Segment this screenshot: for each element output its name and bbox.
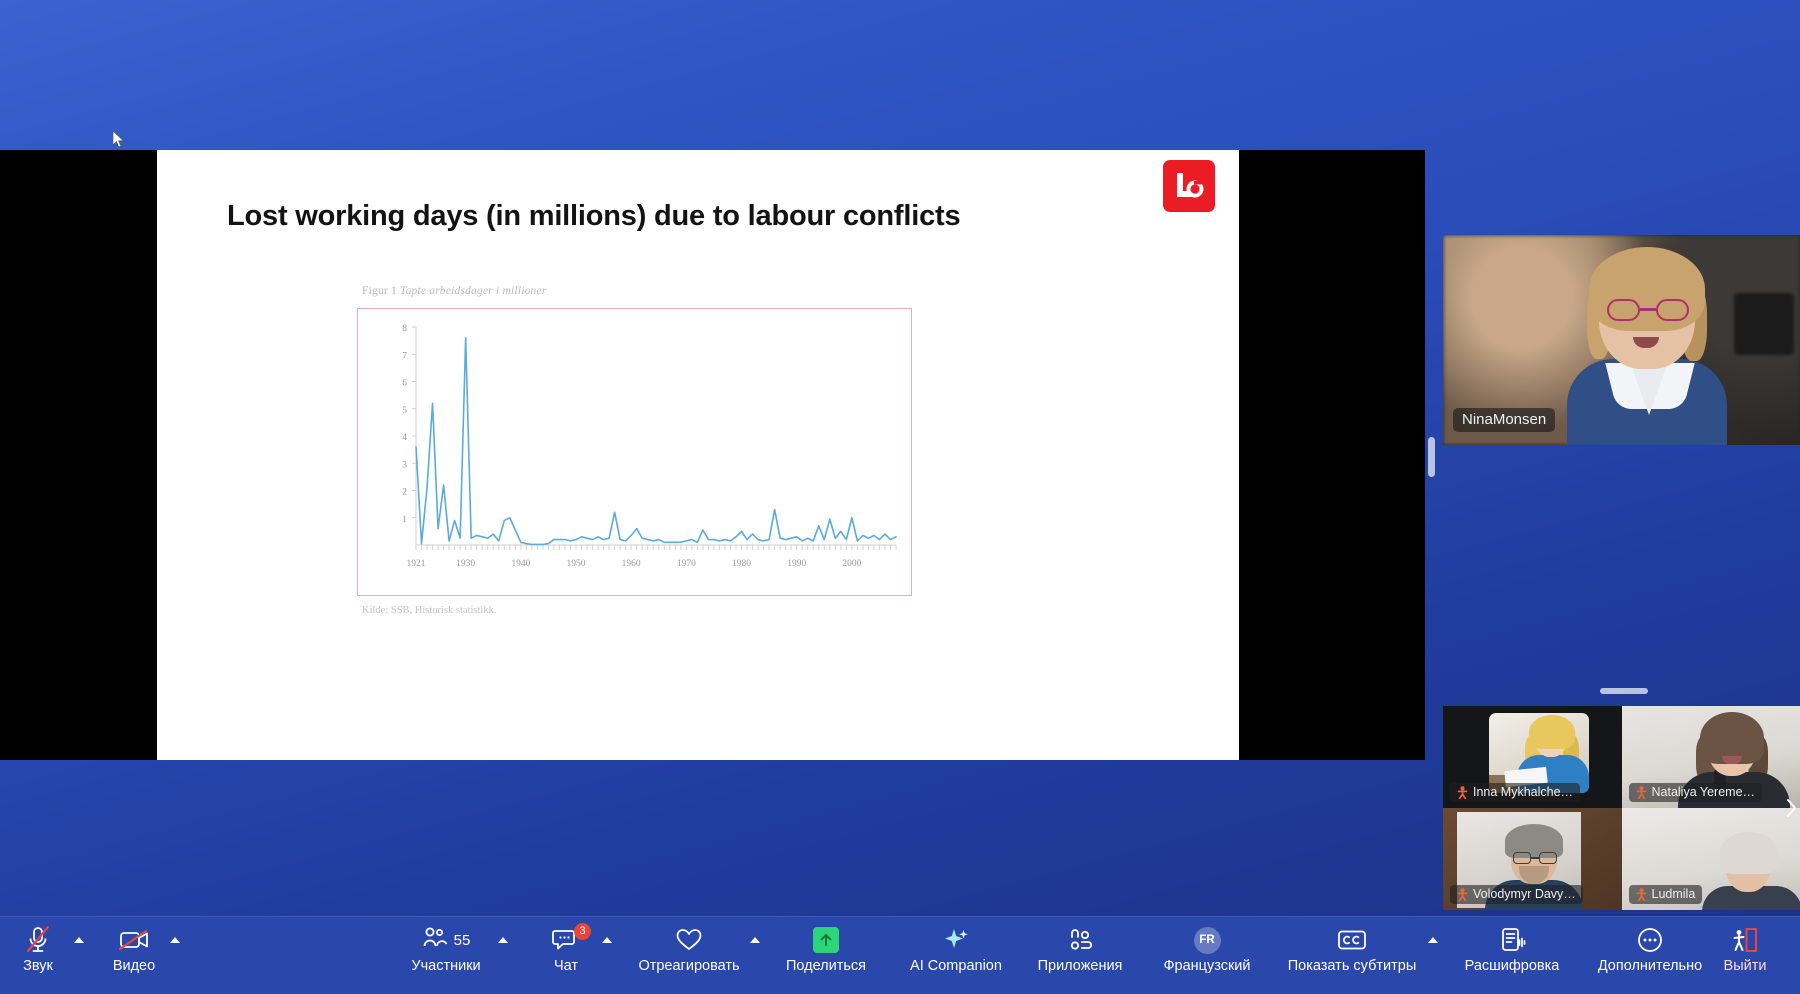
chevron-up-icon — [498, 937, 508, 943]
captions-label: Показать субтитры — [1288, 958, 1417, 974]
chevron-up-icon — [750, 937, 760, 943]
leave-label: Выйти — [1724, 958, 1767, 974]
participant-name-chip: Nataliya Yereme… — [1629, 783, 1763, 802]
heart-icon — [675, 927, 703, 953]
leave-meeting-button[interactable]: Выйти — [1712, 916, 1778, 974]
sparkle-icon — [942, 927, 970, 953]
video-label: Видео — [113, 958, 155, 974]
line-chart: 1234567819211930194019501960197019801990… — [358, 309, 911, 594]
share-panel-resize-handle[interactable] — [1428, 437, 1435, 477]
svg-text:2000: 2000 — [842, 559, 861, 569]
chevron-up-icon — [74, 937, 84, 943]
participant-name-chip: Ludmila — [1629, 885, 1703, 904]
svg-text:4: 4 — [402, 433, 407, 443]
participant-name: Nataliya Yereme… — [1652, 785, 1756, 799]
captions-options-button[interactable] — [1422, 916, 1444, 943]
audio-options-button[interactable] — [68, 916, 90, 943]
more-dots-icon — [1636, 926, 1664, 954]
figure-caption-text: Tapte arbeidsdager i millioner — [400, 285, 546, 297]
leave-meeting-icon — [1731, 926, 1759, 954]
participant-name: Volodymyr Davy… — [1473, 887, 1576, 901]
hand-raised-icon — [1457, 786, 1468, 799]
chart-frame: 1234567819211930194019501960197019801990… — [357, 308, 912, 596]
hand-raised-icon — [1636, 888, 1647, 901]
microphone-muted-icon — [25, 925, 51, 955]
participant-name-chip: Inna Mykhalche… — [1450, 783, 1580, 802]
participants-icon — [422, 926, 449, 954]
participant-tile[interactable]: Inna Mykhalche… — [1443, 706, 1622, 808]
participants-options-button[interactable] — [492, 916, 514, 943]
language-button[interactable]: FR Французский — [1152, 916, 1262, 974]
language-label: Французский — [1164, 958, 1251, 974]
hand-raised-icon — [1457, 888, 1468, 901]
audio-button[interactable]: Звук — [8, 916, 68, 974]
video-button[interactable]: Видео — [104, 916, 164, 974]
participant-name-chip: Volodymyr Davy… — [1450, 885, 1583, 904]
svg-text:1950: 1950 — [567, 559, 586, 569]
participants-count: 55 — [454, 932, 471, 949]
reactions-label: Отреагировать — [638, 958, 739, 974]
language-code: FR — [1199, 934, 1214, 946]
audio-label: Звук — [23, 958, 53, 974]
participant-name: Inna Mykhalche… — [1473, 785, 1573, 799]
share-screen-button[interactable]: Поделиться — [780, 916, 872, 974]
presentation-slide: Lost working days (in millions) due to l… — [157, 150, 1239, 760]
language-icon: FR — [1194, 927, 1221, 954]
video-off-icon — [118, 925, 150, 955]
svg-text:5: 5 — [402, 406, 407, 416]
svg-text:1: 1 — [402, 515, 407, 525]
participant-gallery[interactable]: Inna Mykhalche… Nataliya Yereme… Volody — [1443, 706, 1800, 910]
participants-label: Участники — [411, 958, 480, 974]
ai-companion-label: AI Companion — [910, 958, 1002, 974]
glasses-icon — [1607, 299, 1689, 321]
participant-tile[interactable]: Volodymyr Davy… — [1443, 808, 1622, 910]
active-speaker-tile[interactable]: NinaMonsen — [1443, 235, 1800, 445]
svg-text:8: 8 — [402, 324, 407, 334]
chat-label: Чат — [554, 958, 578, 974]
svg-text:2: 2 — [402, 488, 407, 498]
chat-options-button[interactable] — [596, 916, 618, 943]
participant-tile[interactable]: Nataliya Yereme… — [1622, 706, 1800, 808]
figure-number: Figur 1 — [362, 285, 400, 297]
background-object — [1734, 293, 1794, 355]
apps-icon — [1067, 927, 1094, 954]
more-label: Дополнительно — [1598, 958, 1702, 974]
reactions-options-button[interactable] — [744, 916, 766, 943]
svg-text:7: 7 — [402, 351, 407, 361]
share-screen-icon — [813, 927, 839, 953]
ai-companion-button[interactable]: AI Companion — [906, 916, 1006, 974]
svg-text:1930: 1930 — [456, 559, 475, 569]
svg-text:6: 6 — [402, 379, 407, 389]
chevron-up-icon — [602, 937, 612, 943]
chart-source-note: Kilde: SSB, Historisk statistikk. — [362, 605, 496, 616]
participants-button[interactable]: 55 Участники — [400, 916, 492, 974]
gallery-next-button[interactable] — [1783, 784, 1800, 832]
svg-text:1921: 1921 — [407, 559, 426, 569]
share-screen-label: Поделиться — [786, 958, 866, 974]
svg-text:1980: 1980 — [732, 559, 751, 569]
captions-button[interactable]: Показать субтитры — [1282, 916, 1422, 974]
participant-name: Ludmila — [1652, 887, 1696, 901]
slide-title: Lost working days (in millions) due to l… — [227, 200, 1107, 233]
speaker-name-label: NinaMonsen — [1453, 408, 1555, 432]
participant-tile[interactable]: Ludmila — [1622, 808, 1800, 910]
svg-text:1960: 1960 — [622, 559, 641, 569]
chevron-up-icon — [170, 937, 180, 943]
chevron-right-icon — [1786, 798, 1798, 818]
video-options-button[interactable] — [164, 916, 186, 943]
svg-text:3: 3 — [402, 460, 407, 470]
meeting-toolbar[interactable]: Звук Видео 55 Участники — [0, 916, 1800, 994]
svg-text:1970: 1970 — [677, 559, 696, 569]
svg-text:1940: 1940 — [511, 559, 530, 569]
apps-label: Приложения — [1038, 958, 1123, 974]
chat-button[interactable]: 3 Чат — [536, 916, 596, 974]
lo-logo-icon — [1163, 160, 1215, 212]
more-button[interactable]: Дополнительно — [1588, 916, 1712, 974]
closed-caption-icon — [1337, 928, 1367, 952]
svg-text:1990: 1990 — [787, 559, 806, 569]
apps-button[interactable]: Приложения — [1030, 916, 1130, 974]
gallery-resize-handle[interactable] — [1600, 688, 1648, 694]
transcript-icon — [1499, 926, 1526, 954]
shared-screen-region[interactable]: Lost working days (in millions) due to l… — [0, 150, 1425, 760]
transcription-button[interactable]: Расшифровка — [1458, 916, 1566, 974]
chevron-up-icon — [1428, 937, 1438, 943]
chat-unread-badge: 3 — [574, 923, 591, 940]
speaker-avatar — [1571, 253, 1723, 445]
hand-raised-icon — [1636, 786, 1647, 799]
reactions-button[interactable]: Отреагировать — [634, 916, 744, 974]
glasses-icon — [1513, 852, 1557, 864]
transcription-label: Расшифровка — [1465, 958, 1560, 974]
figure-caption: Figur 1 Tapte arbeidsdager i millioner — [362, 285, 547, 297]
mouse-cursor-icon — [113, 131, 125, 149]
